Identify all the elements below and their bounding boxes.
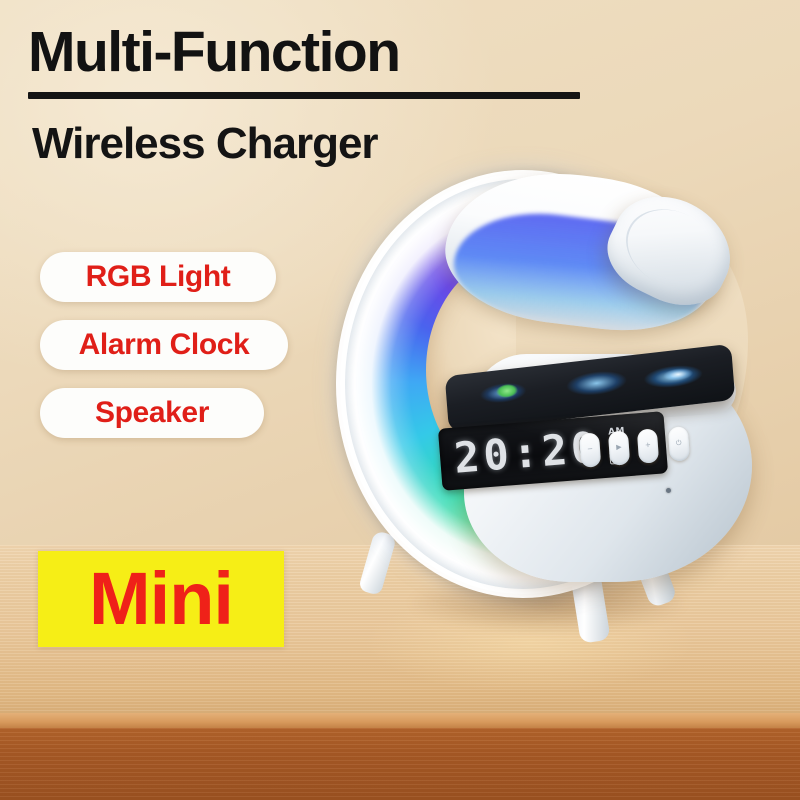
- headline-subtitle: Wireless Charger: [32, 122, 378, 166]
- wallpaper-swirl: [559, 365, 635, 401]
- feature-pill-speaker: Speaker: [40, 388, 264, 438]
- button-glyph: ▶: [609, 442, 630, 451]
- mini-badge-label: Mini: [89, 562, 233, 636]
- headline-underline: [28, 92, 580, 99]
- desk-front-face: [0, 728, 800, 800]
- microphone-hole-icon: [666, 488, 671, 493]
- product-marketing-image: Multi-Function Wireless Charger RGB Ligh…: [0, 0, 800, 800]
- feature-pill-label: Speaker: [95, 396, 209, 430]
- button-glyph: +: [638, 440, 659, 449]
- feature-pill-label: Alarm Clock: [79, 328, 250, 362]
- button-glyph: ⏻: [669, 438, 690, 448]
- feature-pill-label: RGB Light: [86, 260, 231, 294]
- headline-title: Multi-Function: [28, 24, 400, 81]
- product-device: 20:20 AM PM − ▶ + ⏻: [318, 168, 788, 678]
- volume-up-icon[interactable]: +: [637, 428, 659, 463]
- feature-pill-alarm-clock: Alarm Clock: [40, 320, 288, 370]
- desk-edge-bevel: [0, 713, 800, 729]
- feature-pill-rgb-light: RGB Light: [40, 252, 276, 302]
- mini-badge: Mini: [38, 551, 284, 647]
- button-glyph: −: [580, 444, 601, 453]
- play-pause-icon[interactable]: ▶: [608, 430, 630, 465]
- power-icon[interactable]: ⏻: [668, 426, 690, 461]
- volume-down-icon[interactable]: −: [579, 432, 601, 467]
